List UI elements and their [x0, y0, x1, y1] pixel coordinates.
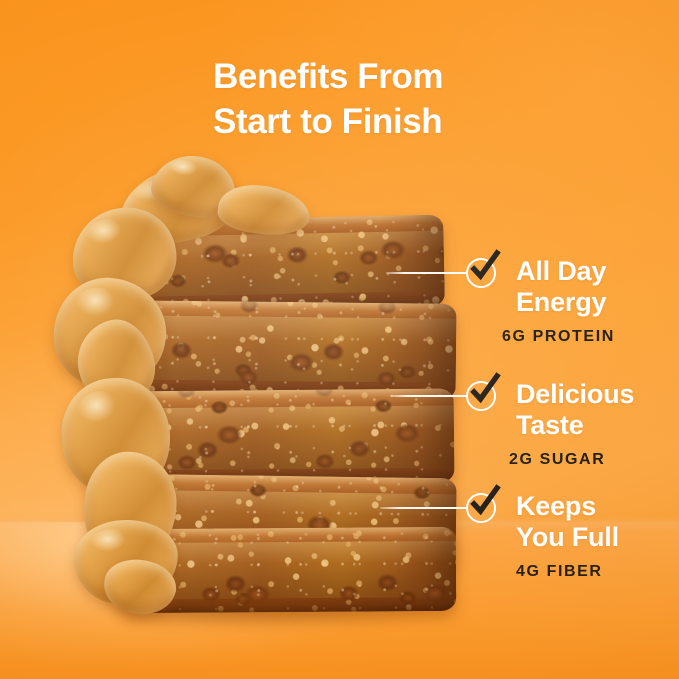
product-benefits-infographic: Benefits From Start to Finish [0, 0, 679, 679]
background-vignette [0, 0, 679, 679]
